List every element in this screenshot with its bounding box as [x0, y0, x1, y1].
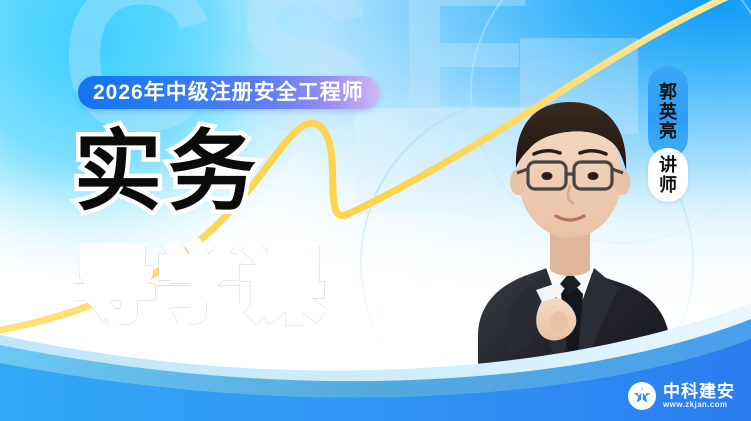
- brand-url: www.zkjan.com: [663, 401, 735, 409]
- instructor-name-pill: 郭 英 亮: [648, 66, 688, 158]
- brand-logo[interactable]: 中科建安 www.zkjan.com: [622, 377, 743, 415]
- headline-line-2: 导学课: [74, 246, 326, 326]
- instructor-name-char-1: 郭: [659, 83, 677, 101]
- course-badge-label: 2026年中级注册安全工程师: [93, 82, 364, 103]
- star-arrow-icon: [628, 382, 656, 410]
- instructor-role-pill: 讲 师: [648, 148, 688, 202]
- instructor-name-char-2: 英: [659, 103, 677, 121]
- course-banner: CSE: [0, 0, 751, 421]
- instructor-role-char-2: 师: [659, 176, 677, 194]
- instructor-role-char-1: 讲: [659, 156, 677, 174]
- brand-name: 中科建安: [663, 383, 735, 400]
- brand-logo-text: 中科建安 www.zkjan.com: [663, 383, 735, 409]
- course-badge: 2026年中级注册安全工程师: [78, 76, 379, 109]
- headline-line-1: 实务: [74, 128, 262, 216]
- instructor-name-char-3: 亮: [659, 122, 677, 140]
